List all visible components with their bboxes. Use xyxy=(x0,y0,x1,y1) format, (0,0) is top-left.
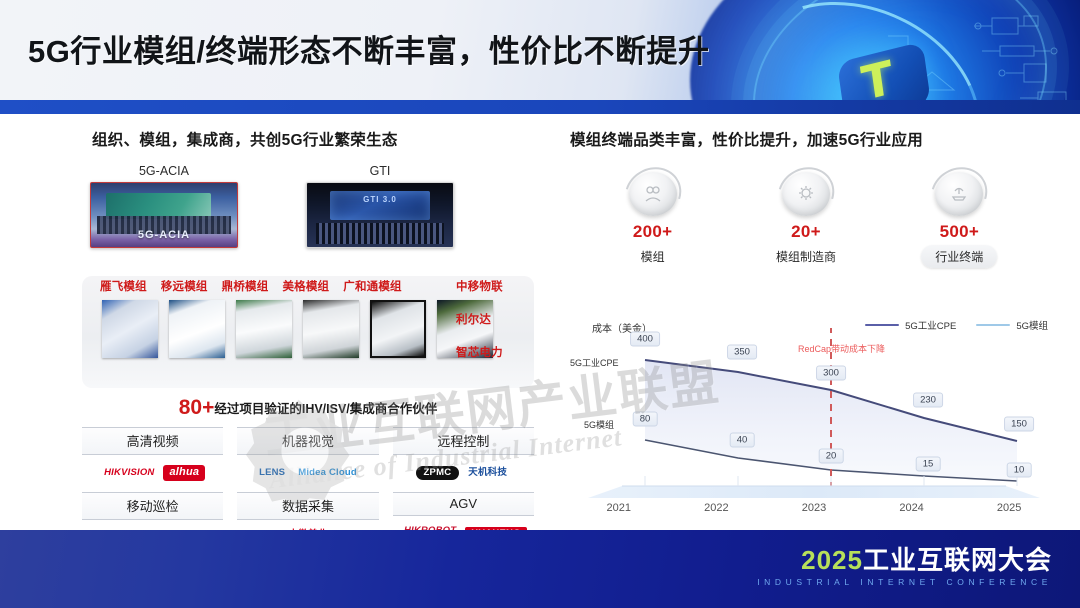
data-label-cpe-2025: 150 xyxy=(1004,417,1034,432)
conference-name-cn: 工业互联网大会 xyxy=(863,545,1052,575)
partner-category: 移动巡检 xyxy=(82,492,223,520)
x-tick-label: 2025 xyxy=(960,502,1058,514)
stat-terminals: 500+ 行业终端 xyxy=(889,172,1029,268)
partners-count: 80+ xyxy=(179,396,215,419)
stat-label: 模组制造商 xyxy=(762,245,850,268)
page-title: 5G行业模组/终端形态不断丰富，性价比不断提升 xyxy=(28,26,709,71)
photo-people-row xyxy=(316,223,445,245)
legend-swatch xyxy=(976,324,1010,327)
module-vendor-name: 鼎桥模组 xyxy=(222,278,269,294)
module-vendor-name: 雁飞模组 xyxy=(100,278,147,294)
partner-cell-hd-video: 高清视频 HIKVISION alhua xyxy=(82,427,223,492)
conference-logo: 2025工业互联网大会 INDUSTRIAL INTERNET CONFEREN… xyxy=(757,546,1052,587)
legend-swatch xyxy=(865,324,899,327)
partner-category: 远程控制 xyxy=(393,427,534,455)
conference-year: 2025 xyxy=(801,545,863,575)
data-label-module-2025: 10 xyxy=(1007,463,1032,478)
x-tick-label: 2021 xyxy=(570,502,668,514)
stats-row: 200+ 模组 20+ 模组制造商 500+ 行业终端 xyxy=(556,172,1056,268)
partners-headline-text: 经过项目验证的IHV/ISV/集成商合作伙伴 xyxy=(214,402,437,416)
x-tick-label: 2023 xyxy=(765,502,863,514)
data-label-cpe-2021: 400 xyxy=(630,332,660,347)
midea-cloud-logo: Midea Cloud xyxy=(294,466,361,480)
data-label-module-2022: 40 xyxy=(730,433,755,448)
org-photo-acia xyxy=(90,182,238,248)
partner-category: 机器视觉 xyxy=(237,427,378,455)
data-label-module-2024: 15 xyxy=(916,457,941,472)
module-vendor-extra-list: 中移物联 利尔达 智芯电力 xyxy=(456,278,532,377)
data-label-cpe-2023: 300 xyxy=(816,366,846,381)
photo-people-row xyxy=(97,216,231,234)
slide-header: 5G行业模组/终端形态不断丰富，性价比不断提升 xyxy=(0,0,1080,114)
chart-base-platform xyxy=(588,486,1040,498)
slide-body: 组织、模组，集成商，共创5G行业繁荣生态 5G-ACIA GTI 雁飞模组 移远… xyxy=(0,114,1080,530)
data-label-cpe-2022: 350 xyxy=(727,345,757,360)
left-section-title: 组织、模组，集成商，共创5G行业繁荣生态 xyxy=(92,128,550,150)
dahua-logo: alhua xyxy=(163,465,205,481)
data-label-cpe-2024: 230 xyxy=(913,393,943,408)
module-photo xyxy=(169,300,225,358)
module-photo xyxy=(236,300,292,358)
stat-modules: 200+ 模组 xyxy=(583,172,723,268)
stat-manufacturers: 20+ 模组制造商 xyxy=(736,172,876,268)
hikvision-logo: HIKVISION xyxy=(100,466,158,480)
module-vendors-row: 雁飞模组 移远模组 鼎桥模组 美格模组 广和通模组 中移物联 利尔达 智芯电力 xyxy=(86,278,536,390)
module-vendor-name: 移远模组 xyxy=(161,278,208,294)
module-vendor-name: 美格模组 xyxy=(282,278,329,294)
right-section-title: 模组终端品类丰富，性价比提升，加速5G行业应用 xyxy=(570,128,1056,150)
slide-footer: 2025工业互联网大会 INDUSTRIAL INTERNET CONFEREN… xyxy=(0,530,1080,608)
x-tick-label: 2022 xyxy=(668,502,766,514)
partner-category: AGV xyxy=(393,492,534,516)
org-card-acia: 5G-ACIA xyxy=(90,164,238,248)
left-column: 组织、模组，集成商，共创5G行业繁荣生态 5G-ACIA GTI 雁飞模组 移远… xyxy=(60,128,550,248)
stat-value: 500+ xyxy=(889,222,1029,242)
partners-headline: 80+经过项目验证的IHV/ISV/集成商合作伙伴 xyxy=(82,396,534,420)
partner-cell-machine-vision: 机器视觉 LENS Midea Cloud xyxy=(237,427,378,492)
factory-icon xyxy=(782,172,830,216)
module-photo xyxy=(303,300,359,358)
org-label: GTI xyxy=(306,164,454,178)
partner-category: 数据采集 xyxy=(237,492,378,520)
module-vendor-name: 中移物联 xyxy=(456,278,532,294)
chart-x-axis: 2021 2022 2023 2024 2025 xyxy=(570,502,1058,514)
module-vendor-name: 智芯电力 xyxy=(456,344,532,360)
module-photo xyxy=(370,300,426,358)
x-tick-label: 2024 xyxy=(863,502,961,514)
redcap-annotation: RedCap带动成本下降 xyxy=(798,342,885,355)
modules-icon xyxy=(629,172,677,216)
header-accent-bar xyxy=(0,100,1080,114)
partner-category: 高清视频 xyxy=(82,427,223,455)
lens-logo: LENS xyxy=(255,466,289,480)
data-label-module-2023: 20 xyxy=(819,449,844,464)
cost-trend-chart: 成本（美金） 5G工业CPE 5G模组 5G工业CPE 5G模组 xyxy=(570,318,1058,514)
stat-label: 行业终端 xyxy=(921,245,997,268)
org-card-gti: GTI xyxy=(306,164,454,248)
org-label: 5G-ACIA xyxy=(90,164,238,178)
stat-label: 模组 xyxy=(627,245,679,268)
partner-logos: LENS Midea Cloud xyxy=(237,460,378,486)
zpmc-logo: ZPMC xyxy=(416,466,460,480)
right-column: 模组终端品类丰富，性价比提升，加速5G行业应用 200+ 模组 20+ 模组制造… xyxy=(556,128,1056,268)
module-vendor-name: 广和通模组 xyxy=(343,278,402,294)
stat-value: 200+ xyxy=(583,222,723,242)
partner-logos: ZPMC 天机科技 xyxy=(393,460,534,486)
conference-name-en: INDUSTRIAL INTERNET CONFERENCE xyxy=(757,577,1052,587)
conference-logo-main: 2025工业互联网大会 xyxy=(757,546,1052,575)
module-photo xyxy=(102,300,158,358)
partner-logos: HIKVISION alhua xyxy=(82,460,223,486)
data-label-module-2021: 80 xyxy=(633,412,658,427)
organization-photos: 5G-ACIA GTI xyxy=(90,164,550,248)
terminal-icon xyxy=(935,172,983,216)
stat-value: 20+ xyxy=(736,222,876,242)
tianji-logo: 天机科技 xyxy=(464,466,511,480)
org-photo-gti xyxy=(306,182,454,248)
partner-cell-remote-control: 远程控制 ZPMC 天机科技 xyxy=(393,427,534,492)
module-vendor-name: 利尔达 xyxy=(456,311,532,327)
